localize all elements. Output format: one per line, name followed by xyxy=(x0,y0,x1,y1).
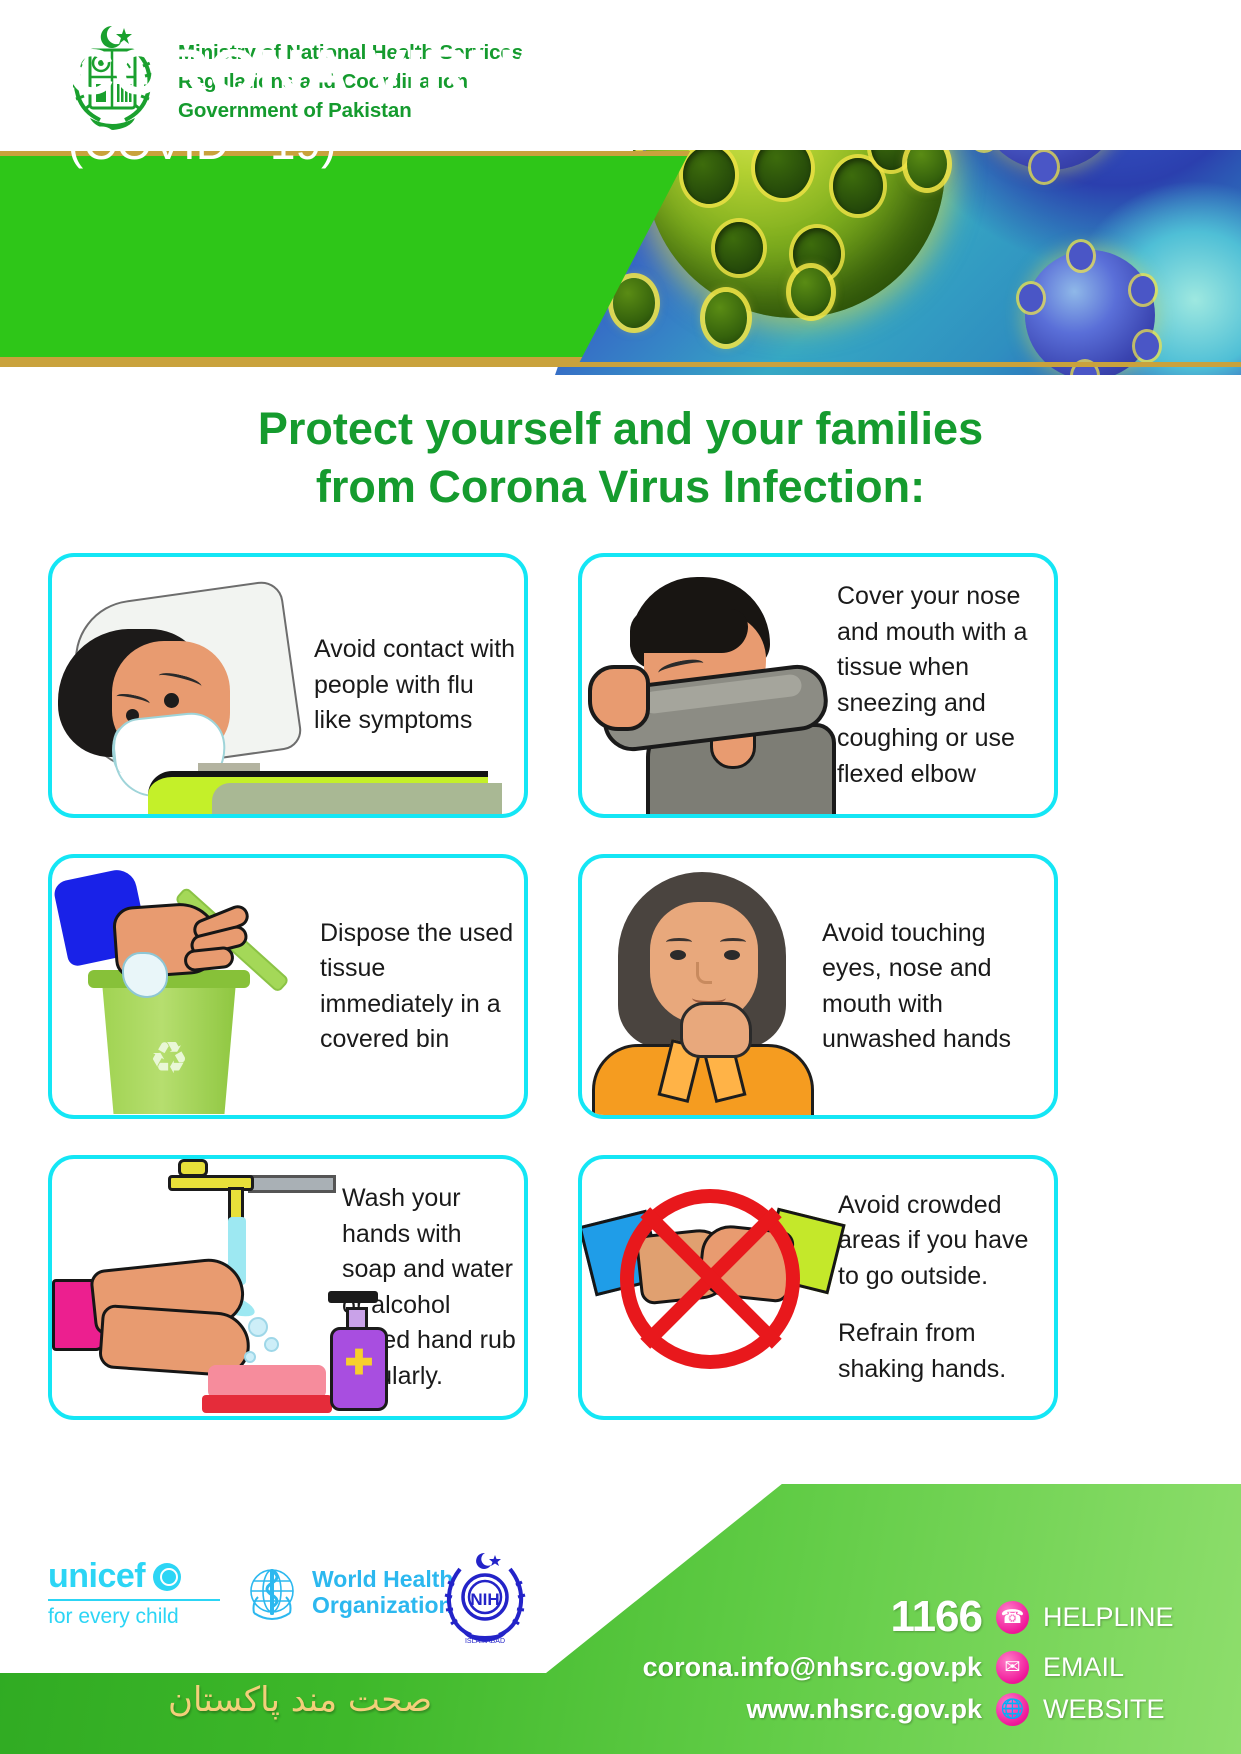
email-label: EMAIL xyxy=(1043,1652,1189,1683)
tip-text: Avoid crowded areas if you have to go ou… xyxy=(838,1188,1054,1388)
tip-paragraph: Avoid contact with people with flu like … xyxy=(314,632,516,739)
helpline-label: HELPLINE xyxy=(1043,1602,1189,1633)
unicef-logo: unicef for every child xyxy=(48,1557,228,1629)
globe-icon: 🌐 xyxy=(996,1693,1029,1726)
contact-block: 1166 ☎ HELPLINE corona.info@nhsrc.gov.pk… xyxy=(569,1592,1189,1735)
who-line-1: World Health xyxy=(312,1567,453,1593)
phone-icon: ☎ xyxy=(996,1601,1029,1634)
unicef-wordmark: unicef xyxy=(48,1557,145,1596)
poster-subtitle: (COVID - 19) xyxy=(68,120,336,166)
tip-card-avoid-contact: Avoid contact with people with flu like … xyxy=(48,553,528,818)
who-wordmark: World Health Organization xyxy=(312,1567,453,1619)
unicef-tagline: for every child xyxy=(48,1605,228,1629)
who-emblem-icon xyxy=(240,1561,304,1627)
tip-paragraph: Cover your nose and mouth with a tissue … xyxy=(837,579,1046,792)
contact-row-email: corona.info@nhsrc.gov.pk ✉ EMAIL xyxy=(569,1651,1189,1684)
partner-logos: unicef for every child World Health Orga… xyxy=(40,1545,580,1645)
nih-islamabad-logo-icon: NIH ISLAMABAD xyxy=(440,1549,530,1644)
contact-row-website: www.nhsrc.gov.pk 🌐 WEBSITE xyxy=(569,1693,1189,1726)
gold-divider xyxy=(0,362,1241,367)
tip-text: Avoid touching eyes, nose and mouth with… xyxy=(822,916,1054,1058)
sick-person-in-bed-illustration xyxy=(52,557,314,814)
tip-paragraph: Avoid touching eyes, nose and mouth with… xyxy=(822,916,1046,1058)
unicef-divider xyxy=(48,1599,220,1601)
tip-paragraph: Avoid crowded areas if you have to go ou… xyxy=(838,1188,1046,1295)
recycle-icon: ♻ xyxy=(144,1034,194,1084)
tip-card-dispose-tissue: ♻ Dispose the used tissue immediately in… xyxy=(48,854,528,1119)
dispose-tissue-illustration: ♻ xyxy=(52,858,320,1115)
tip-text: Dispose the used tissue immediately in a… xyxy=(320,916,524,1058)
heading-line-2: from Corona Virus Infection: xyxy=(0,458,1241,516)
tip-text: Cover your nose and mouth with a tissue … xyxy=(837,579,1054,792)
no-handshake-illustration xyxy=(582,1159,838,1416)
unicef-globe-icon xyxy=(153,1563,181,1591)
virus-particle-tertiary xyxy=(1025,250,1155,375)
sneeze-into-elbow-illustration xyxy=(582,557,837,814)
plus-icon: ✚ xyxy=(344,1349,374,1379)
tip-text: Avoid contact with people with flu like … xyxy=(314,632,524,739)
touching-face-illustration xyxy=(582,858,822,1115)
tip-card-avoid-touching-face: Avoid touching eyes, nose and mouth with… xyxy=(578,854,1058,1119)
tip-paragraph: Refrain from shaking hands. xyxy=(838,1316,1046,1387)
svg-text:NIH: NIH xyxy=(470,1590,499,1609)
envelope-icon: ✉ xyxy=(996,1651,1029,1684)
page-title: Protect yourself and your families from … xyxy=(0,400,1241,515)
contact-row-helpline: 1166 ☎ HELPLINE xyxy=(569,1592,1189,1642)
tip-card-cover-nose-mouth: Cover your nose and mouth with a tissue … xyxy=(578,553,1058,818)
tip-paragraph: Dispose the used tissue immediately in a… xyxy=(320,916,516,1058)
nih-caption: ISLAMABAD xyxy=(465,1638,505,1644)
handwashing-illustration: ✚ xyxy=(52,1159,342,1416)
title-banner xyxy=(0,151,690,362)
urdu-slogan: صحت مند پاکستان xyxy=(168,1680,432,1720)
prevention-tips-grid: Avoid contact with people with flu like … xyxy=(48,553,1058,1420)
website-url[interactable]: www.nhsrc.gov.pk xyxy=(746,1694,982,1725)
tip-card-wash-hands: ✚ Wash your hands with soap and water or… xyxy=(48,1155,528,1420)
email-address[interactable]: corona.info@nhsrc.gov.pk xyxy=(643,1652,982,1683)
who-line-2: Organization xyxy=(312,1593,453,1619)
helpline-number[interactable]: 1166 xyxy=(891,1592,982,1642)
website-label: WEBSITE xyxy=(1043,1694,1189,1725)
poster-title: CORONA VIRUS xyxy=(68,40,557,104)
tip-card-avoid-crowds: Avoid crowded areas if you have to go ou… xyxy=(578,1155,1058,1420)
heading-line-1: Protect yourself and your families xyxy=(0,400,1241,458)
